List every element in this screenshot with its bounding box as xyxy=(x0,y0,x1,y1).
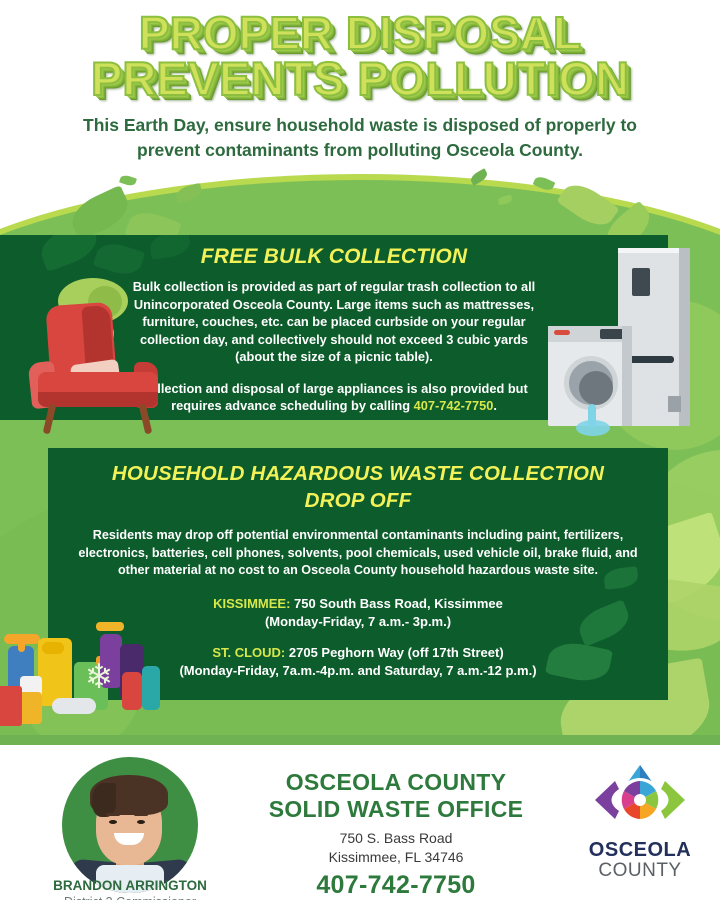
subtitle: This Earth Day, ensure household waste i… xyxy=(60,113,660,163)
headline-line-2: PREVENTS POLLUTION xyxy=(0,56,720,102)
commissioner-portrait xyxy=(62,757,198,893)
commissioner-role: District 3 Commissioner xyxy=(24,895,236,900)
washer-screen xyxy=(600,329,624,339)
office-info: OSCEOLA COUNTY SOLID WASTE OFFICE 750 S.… xyxy=(246,769,546,900)
household-chemicals-illustration: ❄ xyxy=(0,620,161,736)
site-st-cloud-label: ST. CLOUD: xyxy=(212,645,285,660)
logo-subname: COUNTY xyxy=(580,860,700,882)
fridge-handle xyxy=(628,356,674,363)
avatar xyxy=(62,757,198,893)
site-kissimmee-label: KISSIMMEE: xyxy=(213,596,290,611)
bottle-teal-can xyxy=(142,666,160,710)
chair-leg-left xyxy=(43,404,57,435)
appliances-illustration xyxy=(548,248,718,433)
bottle-red-paint-can xyxy=(0,686,22,726)
panel-free-bulk-body2-suffix: . xyxy=(493,398,497,413)
eye-right xyxy=(137,820,145,824)
washer-glass xyxy=(579,371,613,405)
washer-door xyxy=(564,356,618,410)
panel-hazardous-title-line-1: HOUSEHOLD HAZARDOUS WASTE COLLECTION xyxy=(48,461,668,486)
panel-free-bulk-phone[interactable]: 407-742-7750 xyxy=(414,398,494,413)
headline-line-1: PROPER DISPOSAL xyxy=(0,10,720,56)
water-puddle xyxy=(576,420,610,436)
bottom-green-band xyxy=(0,735,720,745)
bottle-yellow-jug-handle xyxy=(42,642,64,654)
commissioner-name: BRANDON ARRINGTON xyxy=(24,878,236,893)
office-title-line-1: OSCEOLA COUNTY xyxy=(246,769,546,796)
eye-left xyxy=(109,820,117,824)
office-phone[interactable]: 407-742-7750 xyxy=(246,871,546,900)
washer-knob xyxy=(554,330,570,335)
bottle-red-spray xyxy=(122,672,142,710)
poster-root: PROPER DISPOSAL PREVENTS POLLUTION This … xyxy=(0,0,720,900)
fridge-badge xyxy=(668,396,681,412)
office-title-line-2: SOLID WASTE OFFICE xyxy=(246,796,546,823)
panel-free-bulk-body2: Collection and disposal of large applian… xyxy=(119,380,549,415)
panel-free-bulk-body: Bulk collection is provided as part of r… xyxy=(119,278,549,366)
office-address-line-1: 750 S. Bass Road xyxy=(246,829,546,848)
site-kissimmee-hours: (Monday-Friday, 7 a.m.- 3p.m.) xyxy=(78,613,638,631)
panel-hazardous-body: Residents may drop off potential environ… xyxy=(75,527,641,580)
site-st-cloud-address: 2705 Peghorn Way (off 17th Street) xyxy=(285,645,503,660)
bottle-purple-pump-top xyxy=(96,622,124,631)
fridge-display xyxy=(632,268,650,296)
logo-eye-icon xyxy=(585,761,695,839)
site-kissimmee-address: 750 South Bass Road, Kissimmee xyxy=(290,596,502,611)
snowflake-icon: ❄ xyxy=(82,660,116,694)
footer: BRANDON ARRINGTON District 3 Commissione… xyxy=(0,745,720,900)
bottle-blue-spray-neck xyxy=(18,638,25,652)
osceola-county-logo: OSCEOLA COUNTY xyxy=(580,761,700,882)
logo-svg xyxy=(585,761,695,839)
washer-side xyxy=(622,326,632,426)
battery-group xyxy=(52,698,96,714)
drop-off-site-kissimmee: KISSIMMEE: 750 South Bass Road, Kissimme… xyxy=(78,595,638,631)
panel-hazardous-title-line-2: DROP OFF xyxy=(48,488,668,513)
brow-left xyxy=(106,813,120,816)
site-kissimmee-line: KISSIMMEE: 750 South Bass Road, Kissimme… xyxy=(78,595,638,613)
chair-leg-right xyxy=(139,404,153,435)
office-address-line-2: Kissimmee, FL 34746 xyxy=(246,848,546,867)
armchair-illustration xyxy=(30,300,180,435)
hair-side xyxy=(92,783,116,817)
logo-name: OSCEOLA xyxy=(580,839,700,862)
brow-right xyxy=(134,813,148,816)
headline: PROPER DISPOSAL PREVENTS POLLUTION xyxy=(0,10,720,102)
